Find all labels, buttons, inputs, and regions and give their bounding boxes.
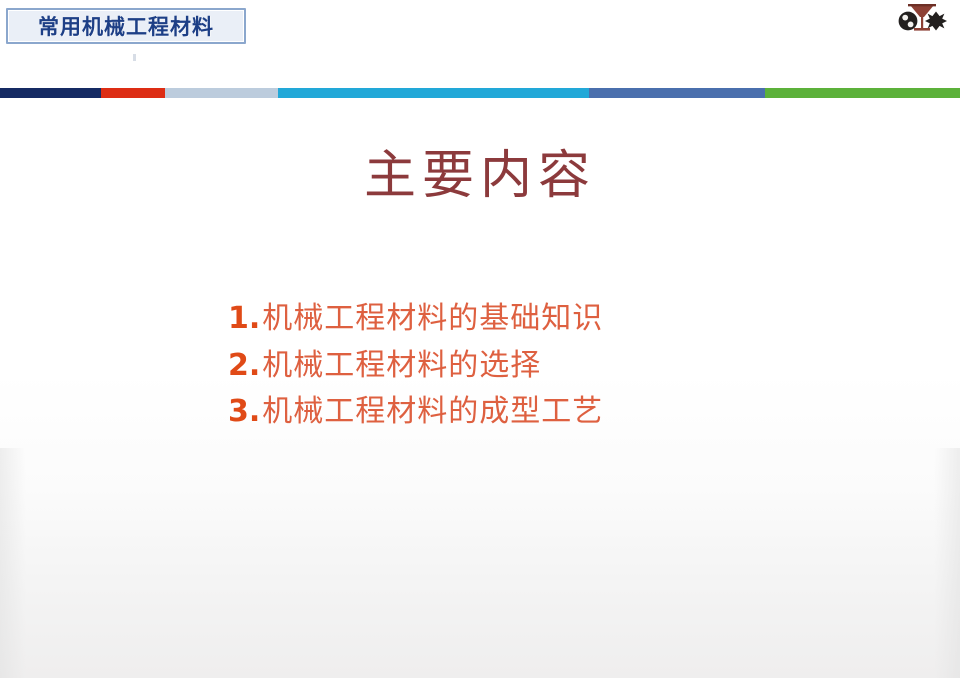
rule-segment-green (765, 88, 960, 98)
course-emblem-icon (892, 2, 948, 34)
list-item: 1. 机械工程材料的基础知识 (228, 298, 868, 341)
color-rule-bar (0, 88, 960, 98)
header-title-label: 常用机械工程材料 (8, 11, 244, 41)
slide-canvas: 常用机械工程材料 主要 (0, 0, 960, 678)
rule-segment-cyan (278, 88, 589, 98)
list-item-number: 1. (228, 298, 260, 341)
header-tick-mark (133, 54, 136, 61)
list-item-number: 3. (228, 391, 260, 434)
list-item-label: 机械工程材料的选择 (262, 345, 541, 388)
rule-segment-pale-blue (165, 88, 278, 98)
slide-header: 常用机械工程材料 (0, 0, 960, 80)
rule-segment-steel (589, 88, 765, 98)
page-title: 主要内容 (0, 147, 960, 207)
list-item-label: 机械工程材料的基础知识 (262, 298, 603, 341)
content-list: 1. 机械工程材料的基础知识 2. 机械工程材料的选择 3. 机械工程材料的成型… (228, 298, 868, 438)
list-item-number: 2. (228, 345, 260, 388)
list-item-label: 机械工程材料的成型工艺 (262, 391, 603, 434)
list-item: 2. 机械工程材料的选择 (228, 345, 868, 388)
rule-segment-red (101, 88, 165, 98)
list-item: 3. 机械工程材料的成型工艺 (228, 391, 868, 434)
rule-segment-navy (0, 88, 101, 98)
header-title-box: 常用机械工程材料 (6, 8, 246, 44)
